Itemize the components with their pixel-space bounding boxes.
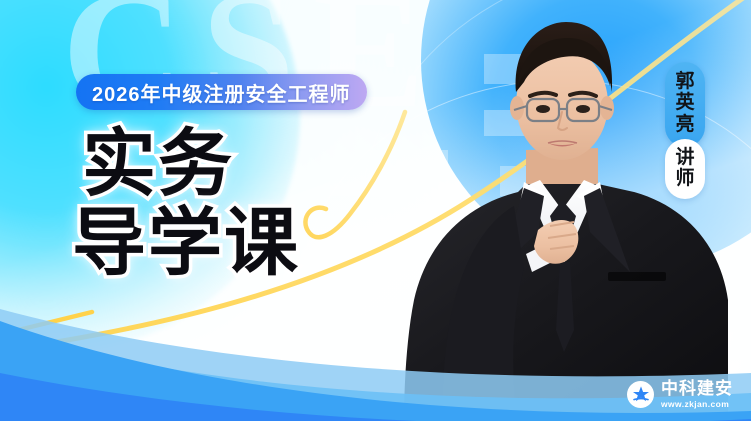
instructor-role-pill: 讲 师 <box>665 139 705 200</box>
instructor-name-char: 英 <box>675 92 694 113</box>
brand-name: 中科建安 <box>661 380 733 398</box>
brand-text-block: 中科建安 www.zkjan.com <box>661 380 733 409</box>
brand-url: www.zkjan.com <box>661 399 733 409</box>
star-bird-logo-icon <box>627 381 654 408</box>
course-tag-badge: 2026年中级注册安全工程师 <box>76 74 367 110</box>
course-tag-label: 2026年中级注册安全工程师 <box>92 78 351 107</box>
course-promo-banner: CSE <box>0 0 751 421</box>
instructor-name-pill: 郭 英 亮 <box>665 62 705 147</box>
brand-logo[interactable]: 中科建安 www.zkjan.com <box>619 376 741 413</box>
headline-line-1: 实务 <box>82 128 300 199</box>
instructor-label: 郭 英 亮 讲 师 <box>665 62 705 199</box>
page-title: 实务 导学课 <box>72 128 300 278</box>
instructor-role-char: 师 <box>675 168 694 189</box>
headline-line-2: 导学课 <box>72 207 300 278</box>
instructor-role-char: 讲 <box>675 147 694 168</box>
instructor-name-char: 郭 <box>675 71 694 92</box>
instructor-name-char: 亮 <box>675 114 694 135</box>
